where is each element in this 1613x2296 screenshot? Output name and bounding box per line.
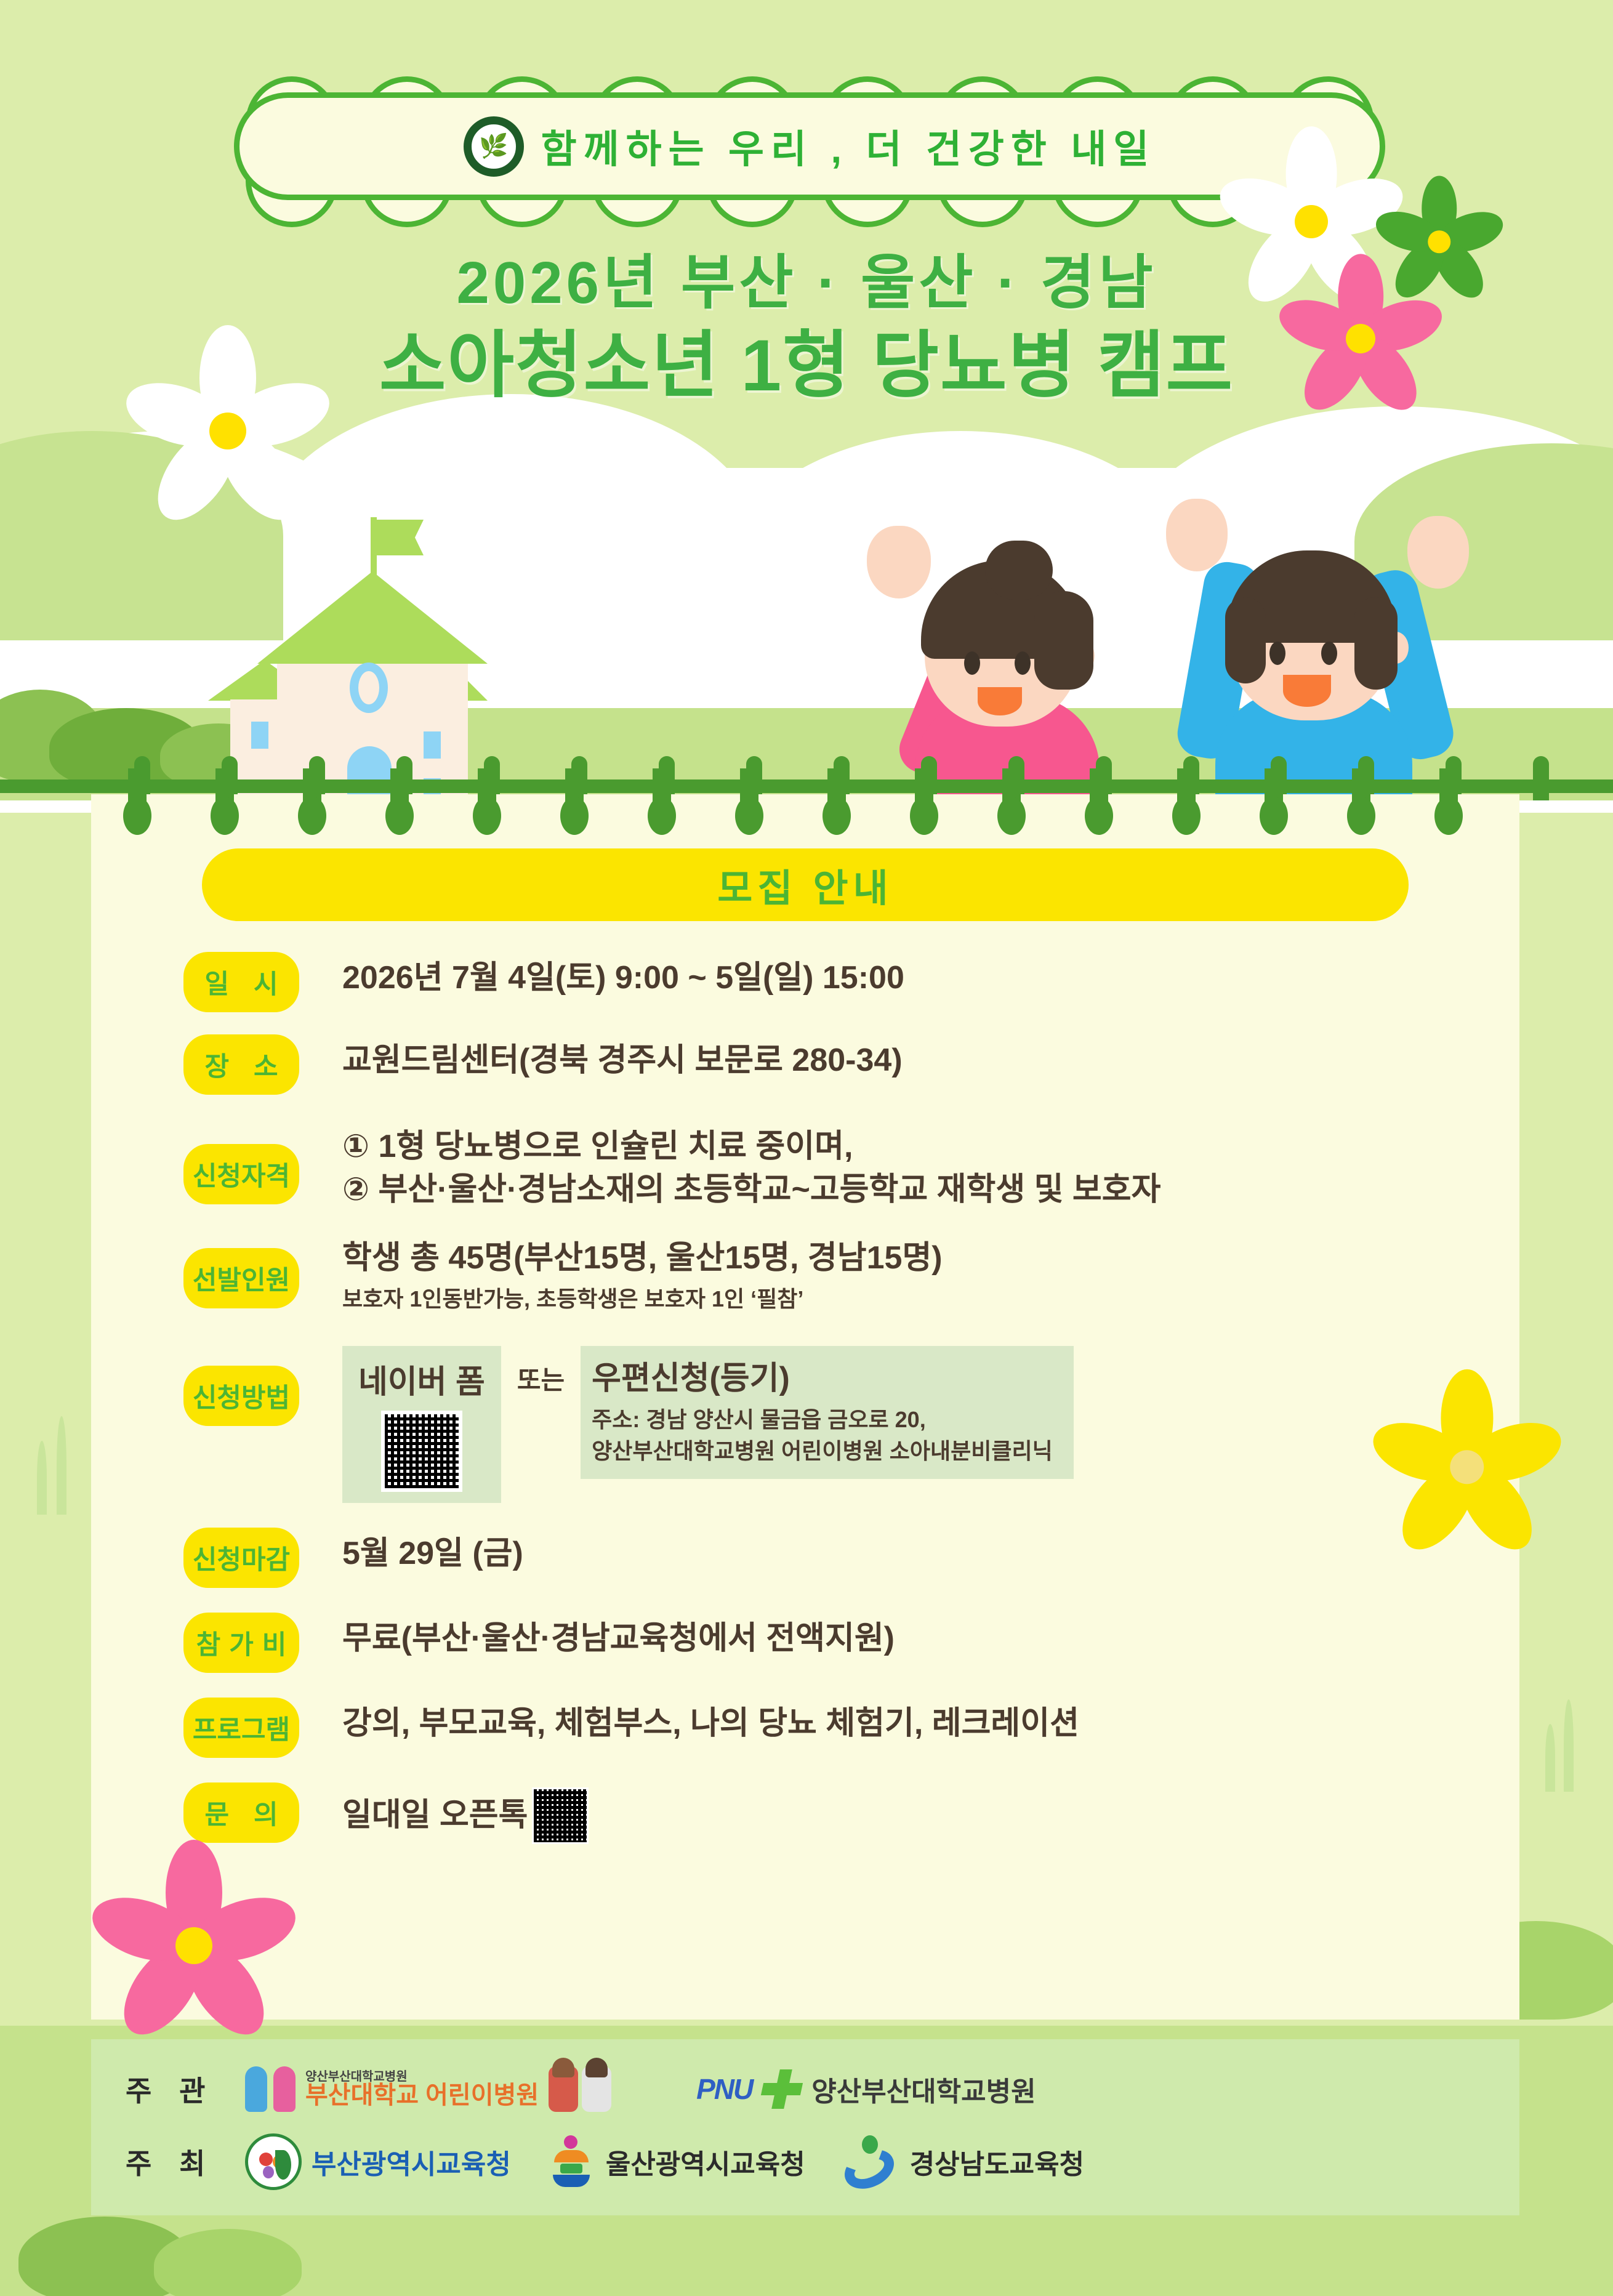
title-line-1: 2026년 부산 · 울산 · 경남 — [0, 246, 1613, 320]
row-eligibility: 신청자격 ① 1형 당뇨병으로 인슐린 치료 중이며, ② 부산·울산·경남소재… — [91, 1121, 1519, 1211]
girl-hair-bun — [985, 541, 1053, 600]
label-apply-method: 신청방법 — [183, 1366, 299, 1426]
org-ulsan-education-office: 울산광역시교육청 — [547, 2135, 805, 2188]
spiral-ring — [827, 768, 846, 835]
boy-left-hand — [1166, 499, 1228, 571]
busan-education-logo-icon — [245, 2133, 302, 2190]
boy-hair-side-right — [1354, 597, 1398, 690]
opentalk-qr-code[interactable] — [532, 1787, 589, 1844]
org-gyeongnam-education-office: 경상남도교육청 — [841, 2135, 1084, 2188]
girl-left-hand — [867, 526, 931, 598]
label-eligibility: 신청자격 — [183, 1144, 299, 1204]
slogan-text: 함께하는 우리 , 더 건강한 내일 — [541, 118, 1156, 174]
kid-girl — [850, 493, 1170, 800]
spiral-ring — [653, 768, 671, 835]
label-quota: 선발인원 — [183, 1248, 299, 1308]
row-fee: 참가비 무료(부산·울산·경남교육청에서 전액지원) — [91, 1613, 1519, 1673]
row-deadline: 신청마감 5월 29일 (금) — [91, 1528, 1519, 1588]
organizer-name-gyeongnam: 경상남도교육청 — [910, 2142, 1084, 2181]
row-inquiry: 문 의 일대일 오픈톡 — [91, 1782, 1519, 1844]
poster-title: 2026년 부산 · 울산 · 경남 소아청소년 1형 당뇨병 캠프 — [0, 246, 1613, 410]
org-busan-education-office: 부산광역시교육청 — [245, 2133, 511, 2190]
value-deadline: 5월 29일 (금) — [342, 1533, 1519, 1576]
row-quota: 선발인원 학생 총 45명(부산15명, 울산15명, 경남15명) 보호자 1… — [91, 1232, 1519, 1313]
pnu-children-logo-icon — [245, 2066, 296, 2112]
grass-blade-2 — [57, 1416, 66, 1515]
flower-core — [1450, 1450, 1484, 1484]
flag — [376, 520, 424, 555]
panel-heading: 모집 안내 — [202, 848, 1409, 921]
spiral-ring — [478, 768, 496, 835]
ulsan-education-logo-icon — [547, 2135, 596, 2188]
boy-hair-side-left — [1225, 597, 1266, 683]
flower-yellow-right — [1410, 1410, 1524, 1524]
girl-eye-left — [964, 651, 980, 675]
spiral-ring — [1177, 768, 1196, 835]
notebook-spiral — [91, 768, 1519, 837]
grass-blade-3 — [1564, 1699, 1574, 1792]
pnu-cross-icon — [762, 2069, 802, 2109]
label-deadline: 신청마감 — [183, 1528, 299, 1588]
row-datetime: 일 시 2026년 7월 4일(토) 9:00 ~ 5일(일) 15:00 — [91, 952, 1519, 1012]
spiral-ring — [915, 768, 933, 835]
footer-row-organizers: 주 최 부산광역시교육청 울산광역시교육청 — [116, 2125, 1495, 2198]
value-eligibility-2: ② 부산·울산·경남소재의 초등학교~고등학교 재학생 및 보호자 — [342, 1169, 1519, 1212]
flower-core — [1295, 205, 1328, 238]
org-pnu-yangsan-hospital: PNU 양산부산대학교병원 — [696, 2069, 1036, 2109]
flower-core — [209, 413, 246, 449]
girl-eye-right — [1015, 651, 1031, 675]
apply-naver-block[interactable]: 네이버 폼 — [342, 1346, 501, 1503]
info-rows: 일 시 2026년 7월 4일(토) 9:00 ~ 5일(일) 15:00 장 … — [91, 946, 1519, 1848]
boy-mouth — [1283, 675, 1331, 707]
spiral-ring — [128, 768, 147, 835]
footer-organizations: 주 관 양산부산대학교병원 부산대학교 어린이병원 — [91, 2039, 1519, 2215]
post-apply-title: 우편신청(등기) — [592, 1352, 1053, 1398]
value-eligibility-1: ① 1형 당뇨병으로 인슐린 치료 중이며, — [342, 1126, 1519, 1169]
label-location: 장 소 — [183, 1034, 299, 1095]
pnu-wordmark-icon: PNU — [696, 2072, 752, 2106]
spiral-ring — [565, 768, 584, 835]
grass-blade-1 — [37, 1441, 47, 1515]
value-quota: 학생 총 45명(부산15명, 울산15명, 경남15명) — [342, 1237, 1519, 1280]
fence-post — [1533, 756, 1549, 800]
label-inquiry: 문 의 — [183, 1782, 299, 1843]
label-fee: 참가비 — [183, 1613, 299, 1673]
row-apply-method: 신청방법 네이버 폼 또는 우편신청(등기) 주소: 경남 양산시 물금읍 금오 — [91, 1341, 1519, 1503]
naver-form-label: 네이버 폼 — [358, 1356, 485, 1402]
post-address-line-2: 양산부산대학교병원 어린이병원 소아내분비클리닉 — [592, 1436, 1053, 1467]
mascot-kids-icon — [549, 2066, 611, 2112]
host-label: 주 관 — [116, 2069, 245, 2109]
value-program: 강의, 부모교육, 체험부스, 나의 당뇨 체험기, 레크레이션 — [342, 1702, 1519, 1746]
boy-eye-left — [1269, 642, 1285, 665]
host-name-pnu-children: 부산대학교 어린이병원 — [305, 2083, 539, 2108]
note-quota: 보호자 1인동반가능, 초등학생은 보호자 1인 ‘필참’ — [342, 1285, 1519, 1314]
label-program: 프로그램 — [183, 1698, 299, 1758]
grass-blade-4 — [1545, 1724, 1555, 1792]
house-roof — [257, 571, 488, 664]
row-location: 장 소 교원드림센터(경북 경주시 보문로 280-34) — [91, 1034, 1519, 1095]
organizer-label: 주 최 — [116, 2141, 245, 2182]
girl-mouth — [978, 687, 1022, 715]
house-round-window — [350, 663, 388, 713]
row-program: 프로그램 강의, 부모교육, 체험부스, 나의 당뇨 체험기, 레크레이션 — [91, 1698, 1519, 1758]
house-window-3 — [251, 722, 268, 749]
spiral-ring — [303, 768, 321, 835]
value-inquiry: 일대일 오픈톡 — [342, 1794, 528, 1837]
value-fee: 무료(부산·울산·경남교육청에서 전액지원) — [342, 1617, 1519, 1661]
boy-eye-right — [1321, 642, 1337, 665]
bush-bottom-left-2 — [154, 2229, 302, 2296]
spiral-ring — [1265, 768, 1283, 835]
kid-boy — [1151, 486, 1496, 800]
footer-row-hosts: 주 관 양산부산대학교병원 부산대학교 어린이병원 — [116, 2053, 1495, 2125]
house-window-1 — [424, 731, 441, 759]
spiral-ring — [1002, 768, 1021, 835]
label-datetime: 일 시 — [183, 952, 299, 1012]
host-name-yangsan: 양산부산대학교병원 — [811, 2069, 1036, 2109]
spiral-ring — [390, 768, 409, 835]
spiral-ring — [215, 768, 234, 835]
value-datetime: 2026년 7월 4일(토) 9:00 ~ 5일(일) 15:00 — [342, 957, 1519, 1000]
spiral-ring — [1352, 768, 1370, 835]
organizer-name-ulsan: 울산광역시교육청 — [606, 2142, 805, 2181]
spiral-ring — [1090, 768, 1108, 835]
post-address-line-1: 주소: 경남 양산시 물금읍 금오로 20, — [592, 1404, 1053, 1435]
boy-right-hand — [1407, 516, 1469, 589]
flower-pink-left — [132, 1884, 255, 2007]
title-line-2: 소아청소년 1형 당뇨병 캠프 — [0, 323, 1613, 410]
slogan-banner: 🌿 함께하는 우리 , 더 건강한 내일 — [234, 92, 1385, 200]
apply-post-block: 우편신청(등기) 주소: 경남 양산시 물금읍 금오로 20, 양산부산대학교병… — [581, 1346, 1074, 1479]
poster-root: 🌿 함께하는 우리 , 더 건강한 내일 — [0, 0, 1613, 2296]
girl-hair-side — [1034, 591, 1093, 690]
value-location: 교원드림센터(경북 경주시 보문로 280-34) — [342, 1039, 1519, 1082]
host-subtitle: 양산부산대학교병원 — [305, 2071, 539, 2083]
camp-emblem-icon: 🌿 — [464, 116, 524, 177]
flower-core — [175, 1927, 212, 1964]
apply-or-text: 또는 — [517, 1346, 565, 1397]
info-panel: 모집 안내 일 시 2026년 7월 4일(토) 9:00 ~ 5일(일) 15… — [91, 794, 1519, 2020]
organizer-name-busan: 부산광역시교육청 — [312, 2142, 511, 2181]
gyeongnam-education-logo-icon — [841, 2135, 900, 2188]
spiral-ring — [1439, 768, 1458, 835]
naver-form-qr-code[interactable] — [381, 1411, 462, 1492]
leaf-icon: 🌿 — [479, 135, 508, 158]
org-pnu-childrens-hospital: 양산부산대학교병원 부산대학교 어린이병원 — [245, 2066, 611, 2112]
spiral-ring — [740, 768, 758, 835]
